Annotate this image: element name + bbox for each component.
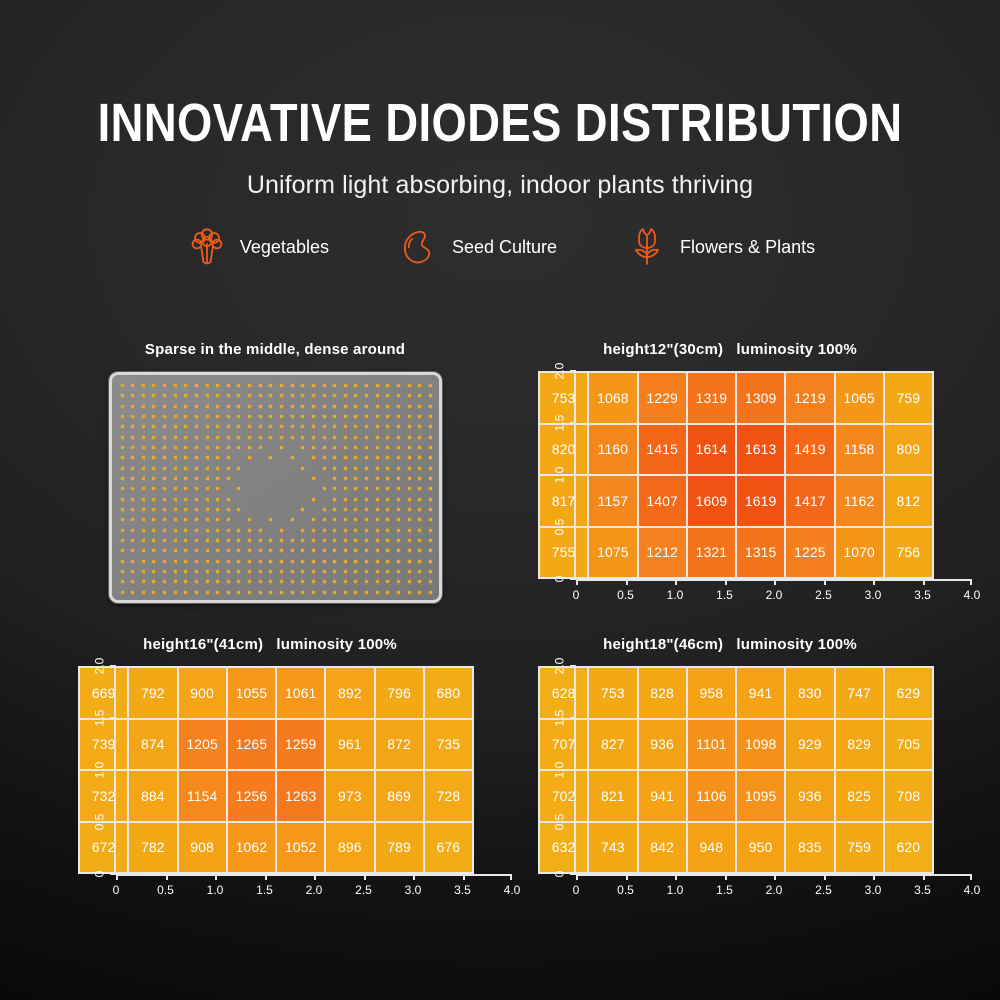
led-dot xyxy=(323,508,326,511)
heatmap-cell: 1062 xyxy=(228,823,275,873)
led-dot xyxy=(312,446,315,449)
led-dot xyxy=(397,518,400,521)
led-dot xyxy=(121,529,124,532)
led-dot xyxy=(344,570,347,573)
led-dot xyxy=(397,415,400,418)
led-dot xyxy=(174,425,177,428)
led-dot xyxy=(344,425,347,428)
led-dot xyxy=(386,570,389,573)
led-dot xyxy=(269,560,272,563)
led-dot xyxy=(386,456,389,459)
led-dot xyxy=(301,436,304,439)
x-axis-tick xyxy=(364,874,366,880)
led-dot xyxy=(259,425,262,428)
heatmap-cell: 825 xyxy=(836,771,883,821)
x-axis-tick xyxy=(824,579,826,585)
heatmap-cell: 1219 xyxy=(786,373,833,423)
heatmap-cell: 1068 xyxy=(589,373,636,423)
led-dot xyxy=(365,498,368,501)
led-dot xyxy=(195,570,198,573)
led-dot xyxy=(418,436,421,439)
led-dot xyxy=(121,498,124,501)
led-dot xyxy=(429,456,432,459)
heatmap-cell: 1256 xyxy=(228,771,275,821)
feature-label: Vegetables xyxy=(240,237,329,258)
y-axis: 00.51.01.52.0 xyxy=(538,666,576,874)
led-dot xyxy=(418,405,421,408)
y-axis-tick xyxy=(110,821,116,823)
led-dot xyxy=(269,384,272,387)
led-dot xyxy=(269,580,272,583)
led-dot xyxy=(291,405,294,408)
heatmap-cell: 1263 xyxy=(277,771,324,821)
heatmap-cell: 869 xyxy=(376,771,423,821)
led-dot xyxy=(237,415,240,418)
led-dot xyxy=(259,384,262,387)
led-dot xyxy=(354,415,357,418)
led-dot xyxy=(376,591,379,594)
led-dot xyxy=(142,539,145,542)
led-dot xyxy=(280,415,283,418)
led-dot xyxy=(152,415,155,418)
led-dot xyxy=(365,384,368,387)
led-dot xyxy=(121,436,124,439)
y-axis-tick-label: 0 xyxy=(550,564,568,594)
led-dot xyxy=(344,487,347,490)
led-dot xyxy=(397,384,400,387)
y-axis-tick xyxy=(570,769,576,771)
heatmap-panel-height16: height16"(41cm) luminosity 100% 00.51.01… xyxy=(40,635,500,925)
led-dot xyxy=(354,405,357,408)
x-axis-tick xyxy=(923,874,925,880)
led-dot xyxy=(121,467,124,470)
led-dot xyxy=(227,549,230,552)
led-dot xyxy=(206,498,209,501)
led-dot xyxy=(333,570,336,573)
led-dot xyxy=(195,529,198,532)
led-dot xyxy=(121,456,124,459)
led-dot xyxy=(152,477,155,480)
led-dot xyxy=(333,560,336,563)
led-dot xyxy=(174,405,177,408)
heatmap-cell: 1229 xyxy=(639,373,686,423)
led-dot xyxy=(429,560,432,563)
led-dot xyxy=(386,498,389,501)
led-dot xyxy=(216,549,219,552)
led-dot xyxy=(323,415,326,418)
led-dot xyxy=(206,394,209,397)
led-dot xyxy=(408,560,411,563)
led-dot xyxy=(195,580,198,583)
led-dot xyxy=(174,487,177,490)
led-dot xyxy=(376,446,379,449)
led-dot xyxy=(227,415,230,418)
led-dot xyxy=(121,560,124,563)
led-dot xyxy=(291,518,294,521)
led-dot xyxy=(163,425,166,428)
y-axis-tick xyxy=(570,526,576,528)
led-dot xyxy=(248,456,251,459)
led-dot xyxy=(418,580,421,583)
led-dot xyxy=(323,487,326,490)
led-dot xyxy=(386,580,389,583)
led-dot xyxy=(174,529,177,532)
heatmap-cell: 1205 xyxy=(179,720,226,770)
led-dot xyxy=(206,487,209,490)
led-dot xyxy=(163,560,166,563)
led-dot xyxy=(301,508,304,511)
led-dot xyxy=(195,560,198,563)
y-axis-tick-label: 0.5 xyxy=(550,807,568,837)
led-dot xyxy=(216,425,219,428)
led-dot xyxy=(237,436,240,439)
x-axis-tick-label: 0 xyxy=(573,883,580,897)
led-dot xyxy=(365,591,368,594)
y-axis-tick-label: 1.0 xyxy=(550,460,568,490)
led-dot xyxy=(376,477,379,480)
heatmap-cell: 1407 xyxy=(639,476,686,526)
led-dot xyxy=(418,539,421,542)
led-dot xyxy=(386,415,389,418)
led-dot xyxy=(386,487,389,490)
panels-container: Sparse in the middle, dense around heigh… xyxy=(0,330,1000,930)
led-dot xyxy=(429,498,432,501)
led-dot xyxy=(152,498,155,501)
led-dot xyxy=(280,591,283,594)
led-dot xyxy=(333,394,336,397)
led-dot xyxy=(344,384,347,387)
led-dot xyxy=(365,487,368,490)
led-dot xyxy=(365,446,368,449)
heatmap-cell: 1160 xyxy=(589,425,636,475)
led-dot xyxy=(365,456,368,459)
heatmap-title: height12"(30cm) luminosity 100% xyxy=(500,340,960,360)
led-dot xyxy=(333,405,336,408)
led-dot xyxy=(344,508,347,511)
led-dot xyxy=(174,580,177,583)
led-dot xyxy=(429,394,432,397)
led-dot xyxy=(386,446,389,449)
led-dot xyxy=(195,394,198,397)
led-dot xyxy=(301,405,304,408)
led-dot xyxy=(195,498,198,501)
led-dot xyxy=(227,436,230,439)
led-dot xyxy=(418,591,421,594)
led-dot xyxy=(301,446,304,449)
led-dot xyxy=(344,498,347,501)
x-axis-tick xyxy=(413,874,415,880)
led-dot xyxy=(429,529,432,532)
led-dot xyxy=(291,415,294,418)
heatmap-cell: 900 xyxy=(179,668,226,718)
heatmap-cell: 676 xyxy=(425,823,472,873)
led-dot xyxy=(312,518,315,521)
led-dot xyxy=(312,498,315,501)
heatmap-cell: 1212 xyxy=(639,528,686,578)
feature-item-vegetables: Vegetables xyxy=(185,225,329,269)
led-dot xyxy=(365,477,368,480)
led-dot xyxy=(195,467,198,470)
led-dot xyxy=(269,415,272,418)
led-dot xyxy=(206,529,209,532)
y-axis-tick-label: 0 xyxy=(550,859,568,889)
x-axis-tick-label: 0 xyxy=(113,883,120,897)
led-dot xyxy=(386,394,389,397)
led-dot xyxy=(429,415,432,418)
led-dot xyxy=(163,498,166,501)
x-axis-tick xyxy=(215,874,217,880)
led-dot xyxy=(301,580,304,583)
x-axis: 00.51.01.52.02.53.03.54.0 xyxy=(576,874,972,904)
led-dot xyxy=(354,591,357,594)
heatmap-cell: 1321 xyxy=(688,528,735,578)
led-dot xyxy=(429,425,432,428)
led-dot xyxy=(174,518,177,521)
led-dot xyxy=(418,570,421,573)
led-dot xyxy=(216,508,219,511)
led-dot xyxy=(163,539,166,542)
led-dot xyxy=(429,549,432,552)
led-dot xyxy=(418,456,421,459)
broccoli-icon xyxy=(185,225,229,269)
led-dot xyxy=(206,549,209,552)
led-dot xyxy=(142,529,145,532)
heatmap-cell: 827 xyxy=(589,720,636,770)
led-dot xyxy=(259,560,262,563)
led-dot xyxy=(142,467,145,470)
led-dot xyxy=(163,436,166,439)
led-dot xyxy=(418,425,421,428)
led-dot xyxy=(248,560,251,563)
led-dot xyxy=(142,580,145,583)
led-dot xyxy=(121,580,124,583)
led-dot xyxy=(301,415,304,418)
led-dot xyxy=(195,425,198,428)
led-dot xyxy=(195,477,198,480)
led-dot xyxy=(344,436,347,439)
heatmap-cell: 1070 xyxy=(836,528,883,578)
led-dot xyxy=(301,560,304,563)
heatmap-cell: 753 xyxy=(589,668,636,718)
led-dot xyxy=(333,467,336,470)
y-axis-tick-label: 1.5 xyxy=(550,703,568,733)
led-dot xyxy=(280,570,283,573)
led-dot xyxy=(131,518,134,521)
led-dot xyxy=(301,549,304,552)
led-dot xyxy=(152,405,155,408)
heatmap-cell: 936 xyxy=(786,771,833,821)
led-dot xyxy=(418,518,421,521)
led-dot xyxy=(429,570,432,573)
heatmap-panel-height12: height12"(30cm) luminosity 100% 00.51.01… xyxy=(500,340,960,630)
heatmap-cell: 842 xyxy=(639,823,686,873)
led-dot xyxy=(163,580,166,583)
led-dot xyxy=(174,549,177,552)
heatmap-cell: 1225 xyxy=(786,528,833,578)
led-dot xyxy=(376,425,379,428)
led-dot xyxy=(376,394,379,397)
heatmap-cell: 680 xyxy=(425,668,472,718)
led-dot xyxy=(184,560,187,563)
led-dot xyxy=(248,405,251,408)
x-axis-tick-label: 0.5 xyxy=(617,588,634,602)
led-dot xyxy=(408,498,411,501)
led-dot xyxy=(195,508,198,511)
led-dot xyxy=(312,394,315,397)
heatmap-cell: 821 xyxy=(589,771,636,821)
led-dot xyxy=(376,498,379,501)
led-dot xyxy=(121,487,124,490)
led-dot xyxy=(269,456,272,459)
led-dot xyxy=(248,529,251,532)
led-dot xyxy=(291,456,294,459)
led-dot xyxy=(184,467,187,470)
heatmap-cell: 759 xyxy=(885,373,932,423)
led-dot xyxy=(376,549,379,552)
led-dot xyxy=(408,580,411,583)
led-dot xyxy=(184,394,187,397)
x-axis-tick-label: 3.0 xyxy=(865,588,882,602)
led-dot xyxy=(152,425,155,428)
heatmap-cell: 1075 xyxy=(589,528,636,578)
heatmap-cell: 1162 xyxy=(836,476,883,526)
led-dot xyxy=(354,498,357,501)
led-dot xyxy=(142,405,145,408)
led-dot xyxy=(152,570,155,573)
led-dot xyxy=(397,549,400,552)
led-dot xyxy=(131,384,134,387)
led-dot xyxy=(163,394,166,397)
heatmap-cell: 809 xyxy=(885,425,932,475)
led-dot xyxy=(312,436,315,439)
led-dot xyxy=(216,446,219,449)
led-dot xyxy=(131,498,134,501)
led-dot xyxy=(163,591,166,594)
y-axis-tick-label: 0.5 xyxy=(90,807,108,837)
led-dot xyxy=(408,539,411,542)
led-dot xyxy=(418,467,421,470)
led-dot xyxy=(142,394,145,397)
led-dot xyxy=(259,415,262,418)
heatmap-cell: 728 xyxy=(425,771,472,821)
led-dot xyxy=(312,405,315,408)
led-dot xyxy=(121,384,124,387)
x-axis-tick xyxy=(166,874,168,880)
led-dot xyxy=(216,487,219,490)
x-axis-tick xyxy=(576,874,578,880)
led-dot xyxy=(301,425,304,428)
heatmap-cell: 835 xyxy=(786,823,833,873)
led-dot xyxy=(163,456,166,459)
led-dot xyxy=(269,549,272,552)
led-dot xyxy=(301,394,304,397)
led-dot xyxy=(206,539,209,542)
led-dot xyxy=(237,529,240,532)
led-dot xyxy=(174,415,177,418)
led-dot xyxy=(312,384,315,387)
y-axis-tick-label: 1.5 xyxy=(90,703,108,733)
x-axis-tick xyxy=(774,874,776,880)
led-dot xyxy=(376,529,379,532)
led-dot xyxy=(131,487,134,490)
led-dot xyxy=(259,405,262,408)
led-dot xyxy=(227,456,230,459)
led-dot xyxy=(163,487,166,490)
led-dot xyxy=(184,529,187,532)
led-dot xyxy=(365,549,368,552)
x-axis: 00.51.01.52.02.53.03.54.0 xyxy=(576,579,972,609)
heatmap-cell: 1157 xyxy=(589,476,636,526)
heatmap-cell: 705 xyxy=(885,720,932,770)
led-dot xyxy=(418,394,421,397)
led-dot xyxy=(121,539,124,542)
led-dot xyxy=(344,591,347,594)
heatmap-cell: 1106 xyxy=(688,771,735,821)
led-dot xyxy=(323,580,326,583)
led-dot xyxy=(301,591,304,594)
y-axis-tick xyxy=(570,665,576,667)
x-axis-tick xyxy=(463,874,465,880)
led-dot xyxy=(376,518,379,521)
led-dot xyxy=(174,477,177,480)
led-dot xyxy=(323,560,326,563)
led-dot xyxy=(408,394,411,397)
led-dot xyxy=(174,498,177,501)
x-axis-tick xyxy=(576,579,578,585)
led-dot xyxy=(397,508,400,511)
led-dot xyxy=(323,436,326,439)
led-dot xyxy=(418,487,421,490)
x-axis-tick xyxy=(725,874,727,880)
led-dot xyxy=(354,467,357,470)
led-dot xyxy=(206,436,209,439)
heatmap-cell: 1419 xyxy=(786,425,833,475)
led-dot xyxy=(408,436,411,439)
led-dot xyxy=(333,549,336,552)
seed-icon xyxy=(397,225,441,269)
heatmap-cell: 1417 xyxy=(786,476,833,526)
led-dot xyxy=(418,508,421,511)
led-dot xyxy=(131,539,134,542)
tulip-icon xyxy=(625,225,669,269)
led-dot xyxy=(354,529,357,532)
x-axis-tick-label: 0.5 xyxy=(157,883,174,897)
led-dot xyxy=(142,560,145,563)
x-axis-tick xyxy=(675,874,677,880)
led-dot xyxy=(163,446,166,449)
heatmap-cell: 829 xyxy=(836,720,883,770)
led-dot xyxy=(142,591,145,594)
led-dot xyxy=(227,384,230,387)
led-dot xyxy=(408,446,411,449)
led-dot xyxy=(354,384,357,387)
led-dot xyxy=(216,467,219,470)
led-dot xyxy=(376,487,379,490)
led-dot xyxy=(131,467,134,470)
led-dot xyxy=(386,467,389,470)
led-dot xyxy=(131,394,134,397)
led-dot xyxy=(142,425,145,428)
led-dot xyxy=(386,529,389,532)
led-dot xyxy=(408,384,411,387)
led-dot xyxy=(248,518,251,521)
led-dot xyxy=(184,477,187,480)
led-dot xyxy=(142,498,145,501)
led-dot xyxy=(429,405,432,408)
heatmap-cell: 792 xyxy=(129,668,176,718)
led-dot xyxy=(216,539,219,542)
led-dot xyxy=(163,570,166,573)
